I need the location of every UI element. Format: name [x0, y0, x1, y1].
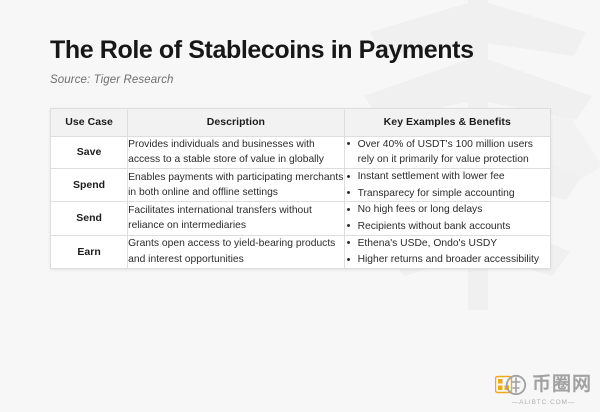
infographic-page: The Role of Stablecoins in Payments Sour… [0, 0, 600, 269]
cell-description: Facilitates international transfers with… [128, 202, 344, 235]
cell-key-examples: Ethena's USDe, Ondo's USDY Higher return… [344, 235, 550, 268]
table-row: Send Facilitates international transfers… [51, 202, 551, 235]
column-header-description: Description [128, 108, 344, 136]
benefit-list: Over 40% of USDT's 100 million users rel… [345, 137, 550, 168]
list-item: No high fees or long delays [358, 202, 550, 218]
table-row: Spend Enables payments with participatin… [51, 169, 551, 202]
cell-use-case: Earn [51, 235, 128, 268]
benefit-list: No high fees or long delays Recipients w… [345, 202, 550, 234]
site-watermark: 币圈网 —ALIBTC.COM— [495, 373, 592, 407]
list-item: Instant settlement with lower fee [358, 169, 550, 185]
cell-key-examples: Instant settlement with lower fee Transp… [344, 169, 550, 202]
watermark-domain-text: —ALIBTC.COM— [512, 400, 576, 407]
list-item: Over 40% of USDT's 100 million users rel… [358, 137, 550, 168]
list-item: Ethena's USDe, Ondo's USDY [358, 236, 550, 252]
cell-use-case: Spend [51, 169, 128, 202]
column-header-key-examples: Key Examples & Benefits [344, 108, 550, 136]
column-header-use-case: Use Case [51, 108, 128, 136]
benefit-list: Ethena's USDe, Ondo's USDY Higher return… [345, 236, 550, 268]
table-row: Earn Grants open access to yield-bearing… [51, 235, 551, 268]
table-body: Save Provides individuals and businesses… [51, 136, 551, 268]
cell-description: Enables payments with participating merc… [128, 169, 344, 202]
watermark-brand-text: 币圈网 [532, 375, 592, 394]
cell-key-examples: Over 40% of USDT's 100 million users rel… [344, 136, 550, 168]
cell-use-case: Send [51, 202, 128, 235]
list-item: Transparecy for simple accounting [358, 186, 550, 202]
table-row: Save Provides individuals and businesses… [51, 136, 551, 168]
benefit-list: Instant settlement with lower fee Transp… [345, 169, 550, 201]
use-case-table: Use Case Description Key Examples & Bene… [50, 108, 551, 269]
table-header: Use Case Description Key Examples & Bene… [51, 108, 551, 136]
list-item: Higher returns and broader accessibility [358, 252, 550, 268]
cell-description: Provides individuals and businesses with… [128, 136, 344, 168]
page-title: The Role of Stablecoins in Payments [50, 36, 552, 65]
alibtc-logo-icon [495, 373, 529, 397]
cell-key-examples: No high fees or long delays Recipients w… [344, 202, 550, 235]
cell-use-case: Save [51, 136, 128, 168]
list-item: Recipients without bank accounts [358, 219, 550, 235]
source-attribution: Source: Tiger Research [50, 74, 552, 86]
table-header-row: Use Case Description Key Examples & Bene… [51, 108, 551, 136]
cell-description: Grants open access to yield-bearing prod… [128, 235, 344, 268]
